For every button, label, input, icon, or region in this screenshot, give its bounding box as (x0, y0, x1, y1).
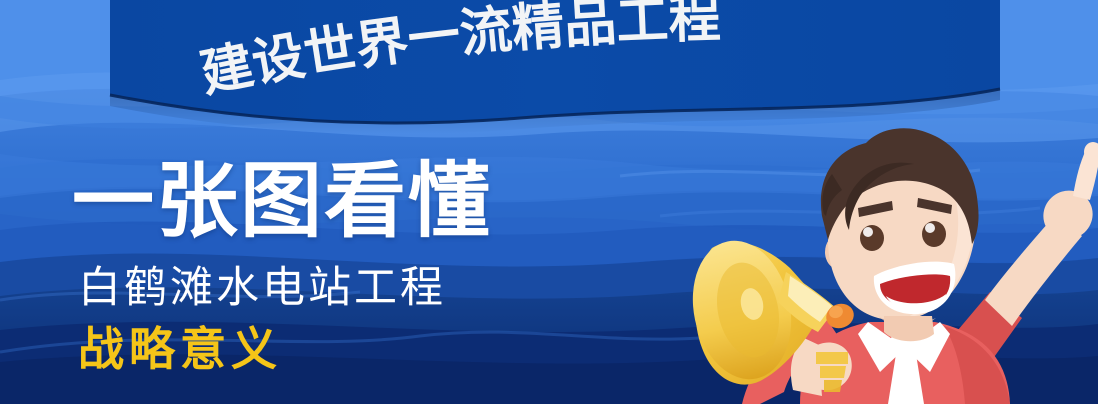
pointing-arm (958, 142, 1098, 360)
eye-left (860, 225, 884, 251)
eye-right (922, 221, 946, 247)
cartoon-announcer-with-megaphone (0, 0, 1098, 404)
hero-banner: 建设世界一流精品工程 (0, 0, 1098, 404)
